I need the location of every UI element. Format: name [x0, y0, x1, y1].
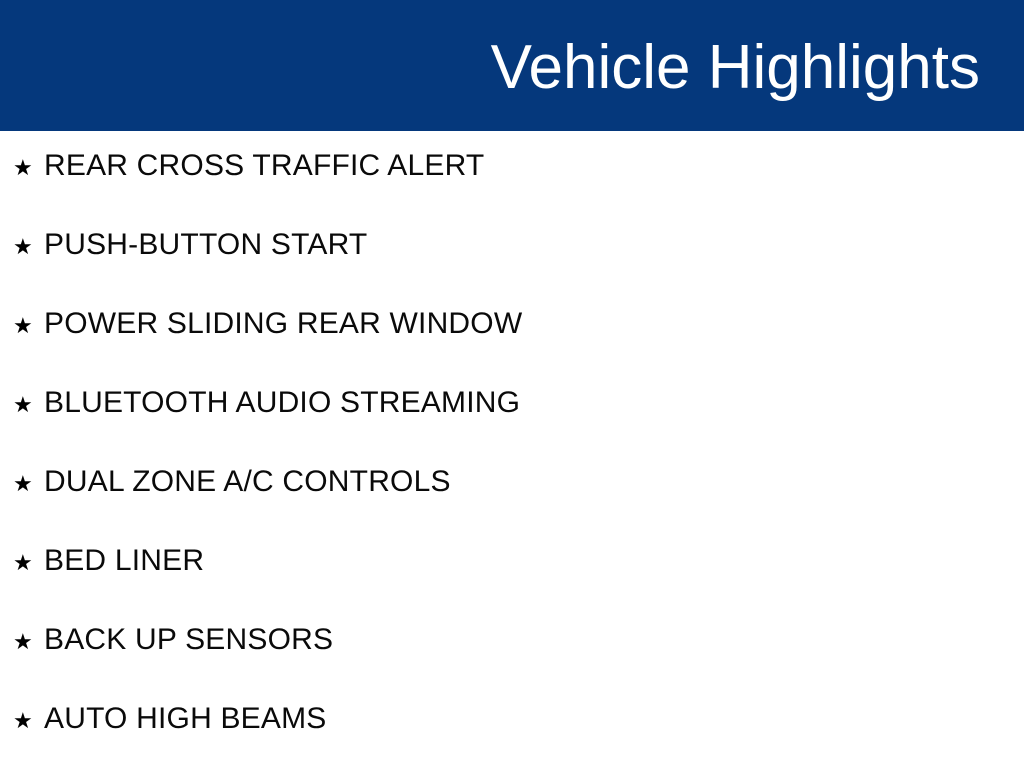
slide-vehicle-highlights: Vehicle Highlights ★ REAR CROSS TRAFFIC … [0, 0, 1024, 768]
list-item: ★ BACK UP SENSORS [0, 625, 1024, 704]
list-item: ★ REAR CROSS TRAFFIC ALERT [0, 131, 1024, 230]
star-icon: ★ [13, 316, 44, 338]
highlight-label: POWER SLIDING REAR WINDOW [44, 309, 522, 339]
star-icon: ★ [13, 158, 44, 180]
star-icon: ★ [13, 711, 44, 733]
list-item: ★ POWER SLIDING REAR WINDOW [0, 309, 1024, 388]
list-item: ★ AUTO HIGH BEAMS [0, 704, 1024, 783]
list-item: ★ BLUETOOTH AUDIO STREAMING [0, 388, 1024, 467]
list-item: ★ PUSH-BUTTON START [0, 230, 1024, 309]
star-icon: ★ [13, 395, 44, 417]
star-icon: ★ [13, 237, 44, 259]
highlight-label: REAR CROSS TRAFFIC ALERT [44, 151, 484, 181]
highlight-label: DUAL ZONE A/C CONTROLS [44, 467, 451, 497]
page-title: Vehicle Highlights [491, 35, 980, 100]
highlight-label: BLUETOOTH AUDIO STREAMING [44, 388, 520, 418]
highlight-label: AUTO HIGH BEAMS [44, 704, 327, 734]
star-icon: ★ [13, 632, 44, 654]
highlight-label: BACK UP SENSORS [44, 625, 333, 655]
highlight-label: BED LINER [44, 546, 204, 576]
list-item: ★ BED LINER [0, 546, 1024, 625]
vehicle-highlights-list: ★ REAR CROSS TRAFFIC ALERT ★ PUSH-BUTTON… [0, 131, 1024, 768]
star-icon: ★ [13, 474, 44, 496]
star-icon: ★ [13, 553, 44, 575]
list-item: ★ DUAL ZONE A/C CONTROLS [0, 467, 1024, 546]
highlight-label: PUSH-BUTTON START [44, 230, 367, 260]
slide-header-band: Vehicle Highlights [0, 0, 1024, 131]
